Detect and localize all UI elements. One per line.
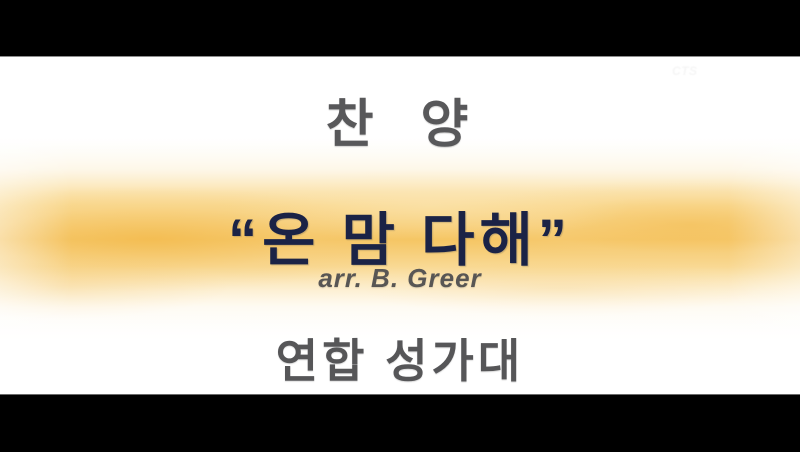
title-slide: CTS 찬 양 “온 맘 다해” arr. B. Greer 연합 성가대 [0,57,800,395]
slide-text-layer: 찬 양 “온 맘 다해” arr. B. Greer 연합 성가대 [0,57,800,395]
performer-choir-name: 연합 성가대 [0,325,800,391]
letterbox-edge-top [0,56,800,57]
letterbox-bar-top [0,0,800,56]
arranger-credit: arr. B. Greer [0,263,800,294]
section-heading-praise: 찬 양 [0,82,800,157]
broadcaster-watermark: CTS [672,62,736,80]
video-frame: CTS 찬 양 “온 맘 다해” arr. B. Greer 연합 성가대 [0,0,800,452]
letterbox-edge-bottom [0,394,800,395]
letterbox-bar-bottom [0,395,800,452]
